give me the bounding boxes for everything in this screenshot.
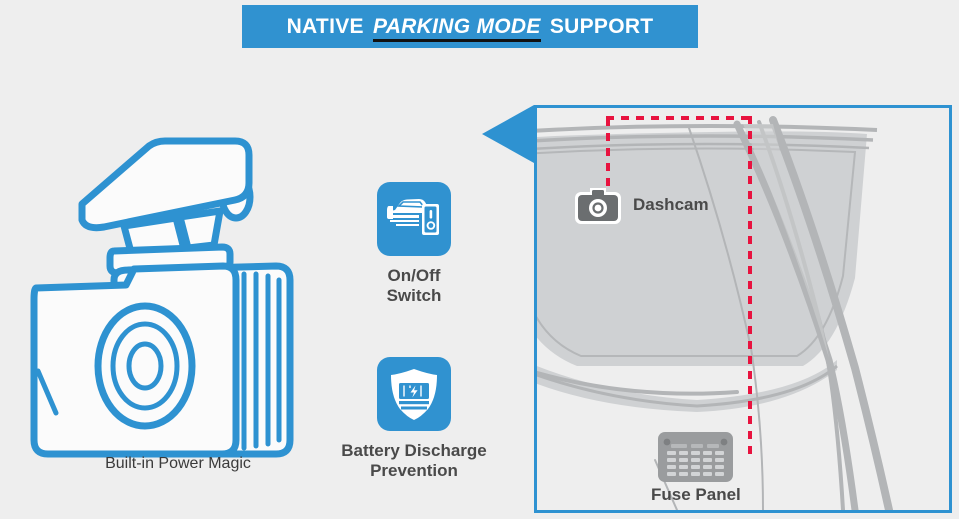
header-title: NATIVE PARKING MODE SUPPORT xyxy=(287,15,654,39)
onoff-switch-tile xyxy=(377,182,451,256)
dashcam-illustration xyxy=(8,128,348,458)
feature-battery-discharge: Battery Discharge Prevention xyxy=(314,357,514,481)
wire-segment-dashcam-riser xyxy=(606,118,610,190)
car-windshield-illustration xyxy=(537,108,949,510)
dashcam-marker[interactable]: Dashcam xyxy=(575,186,709,224)
infographic-stage: NATIVE PARKING MODE SUPPORT xyxy=(0,0,959,519)
fuse-panel-icon xyxy=(658,432,733,482)
onoff-switch-label: On/Off Switch xyxy=(314,266,514,306)
onoff-switch-label-line1: On/Off xyxy=(388,266,441,285)
fuse-panel-marker[interactable]: Fuse Panel xyxy=(651,432,741,505)
shield-battery-icon xyxy=(388,367,440,421)
onoff-switch-label-line2: Switch xyxy=(387,286,442,305)
camera-icon xyxy=(575,186,621,224)
car-interior-panel xyxy=(534,105,952,513)
header-banner: NATIVE PARKING MODE SUPPORT xyxy=(242,5,698,48)
fuse-panel-marker-label: Fuse Panel xyxy=(651,485,741,505)
battery-base-line-2 xyxy=(401,407,427,410)
header-title-emphasis: PARKING MODE xyxy=(373,15,541,42)
header-title-lead: NATIVE xyxy=(287,15,364,38)
battery-base-line-1 xyxy=(399,401,429,404)
feature-onoff-switch: On/Off Switch xyxy=(314,182,514,306)
car-power-switch-icon xyxy=(386,194,442,244)
dashcam-caption: Built-in Power Magic xyxy=(8,455,348,473)
battery-discharge-tile xyxy=(377,357,451,431)
header-title-trail: SUPPORT xyxy=(550,15,654,38)
mount-neck-right xyxy=(180,211,220,248)
wire-segment-down-to-fuse xyxy=(748,116,752,456)
battery-discharge-label-line1: Battery Discharge xyxy=(341,441,487,460)
battery-discharge-label-line2: Prevention xyxy=(370,461,458,480)
battery-discharge-label: Battery Discharge Prevention xyxy=(314,441,514,481)
switch-on-bar xyxy=(430,210,433,219)
wire-segment-top xyxy=(606,116,752,120)
panel-pointer-arrow xyxy=(482,105,536,163)
roof-trim-1 xyxy=(537,126,877,132)
left-pointing-arrow-icon xyxy=(482,105,534,163)
dashcam-marker-label: Dashcam xyxy=(633,195,709,215)
